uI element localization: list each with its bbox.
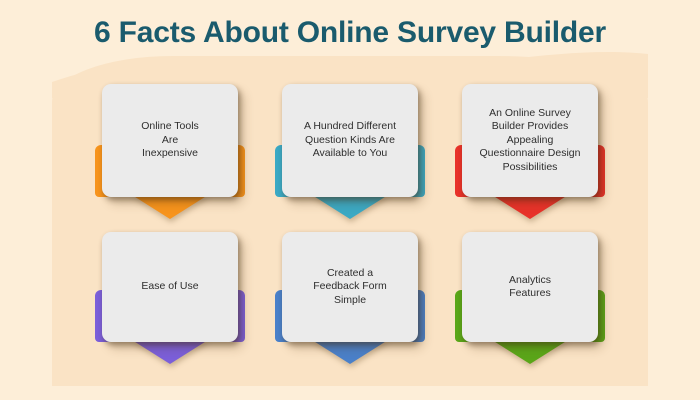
fact-sheet-6[interactable]: Analytics Features [462,232,598,342]
banner-notch-icon [492,195,568,219]
fact-sheet-1[interactable]: Online Tools Are Inexpensive [102,84,238,197]
infographic-canvas: 6 Facts About Online Survey Builder Onli… [0,0,700,400]
fact-text-3: An Online Survey Builder Provides Appeal… [480,107,581,175]
banner-notch-icon [132,195,208,219]
fact-text-4: Ease of Use [141,280,198,294]
banner-notch-icon [312,195,388,219]
facts-grid: Online Tools Are Inexpensive A Hundred D… [0,0,700,400]
fact-text-6: Analytics Features [509,274,551,301]
fact-sheet-5[interactable]: Created a Feedback Form Simple [282,232,418,342]
fact-sheet-4[interactable]: Ease of Use [102,232,238,342]
fact-text-5: Created a Feedback Form Simple [313,267,387,308]
fact-sheet-3[interactable]: An Online Survey Builder Provides Appeal… [462,84,598,197]
fact-text-1: Online Tools Are Inexpensive [141,120,199,161]
fact-text-2: A Hundred Different Question Kinds Are A… [304,120,396,161]
banner-notch-icon [132,340,208,364]
banner-notch-icon [492,340,568,364]
fact-sheet-2[interactable]: A Hundred Different Question Kinds Are A… [282,84,418,197]
banner-notch-icon [312,340,388,364]
